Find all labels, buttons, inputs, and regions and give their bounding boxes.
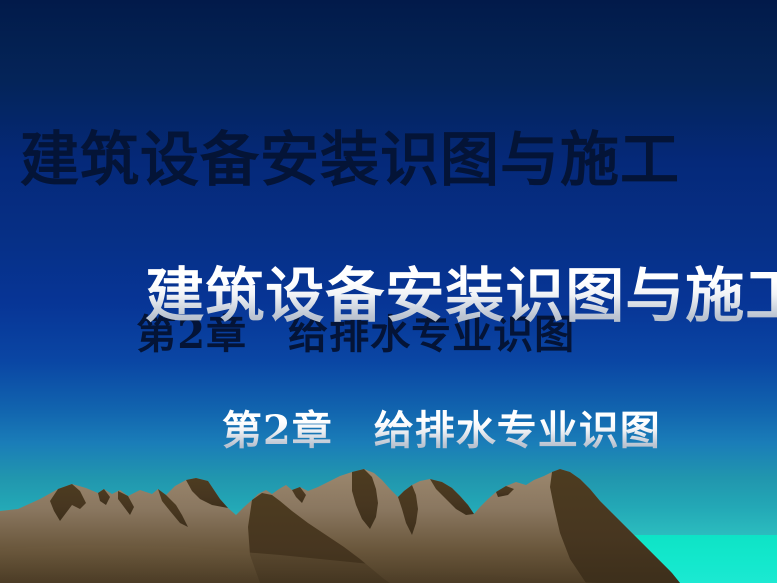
slide-title-shadow: 建筑设备安装识图与施工 [20,125,680,195]
presentation-slide: 建筑设备安装识图与施工 建筑设备安装识图与施工 第2章 给排水专业识图 第2章 … [0,0,777,583]
slide-title-text: 建筑设备安装识图与施工 [145,261,777,330]
slide-subtitle-text: 第2章 给排水专业识图 [222,407,661,454]
